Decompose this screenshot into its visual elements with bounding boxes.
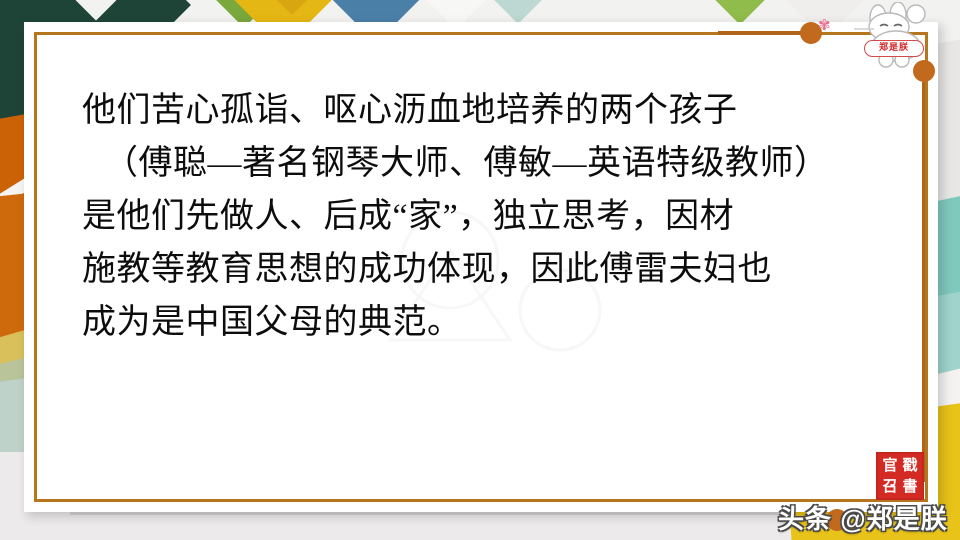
body-line-2: （傅聪—著名钢琴大师、傅敏—英语特级教师）: [82, 137, 882, 190]
seal-char-1: 官: [881, 457, 899, 476]
mascot-badge: 郑是朕: [864, 40, 924, 57]
pin-arm-horizontal: [718, 31, 804, 35]
pin-decoration-right: [913, 60, 935, 482]
body-text-block: 他们苦心孤诣、呕心沥血地培养的两个孩子 （傅聪—著名钢琴大师、傅敏—英语特级教师…: [82, 84, 882, 349]
toutiao-watermark: 头条 @郑是朕: [778, 499, 948, 536]
slide-canvas: 他们苦心孤诣、呕心沥血地培养的两个孩子 （傅聪—著名钢琴大师、傅敏—英语特级教师…: [0, 0, 960, 540]
pin-stem: [922, 82, 925, 482]
seal-char-2: 戳: [901, 457, 919, 476]
body-line-3: 是他们先做人、后成“家”，独立思考，因材: [82, 190, 882, 243]
red-seal-stamp: 官 戳 召 書: [876, 452, 924, 500]
body-line-1: 他们苦心孤诣、呕心沥血地培养的两个孩子: [82, 84, 882, 137]
mascot-sparkle-icon: ✾: [818, 19, 831, 34]
seal-char-3: 召: [881, 478, 899, 497]
seal-char-4: 書: [901, 478, 919, 497]
rabbit-mascot-icon: [852, 2, 936, 72]
body-line-4: 施教等教育思想的成功体现，因此傅雷夫妇也: [82, 243, 882, 296]
body-line-5: 成为是中国父母的典范。: [82, 296, 882, 349]
